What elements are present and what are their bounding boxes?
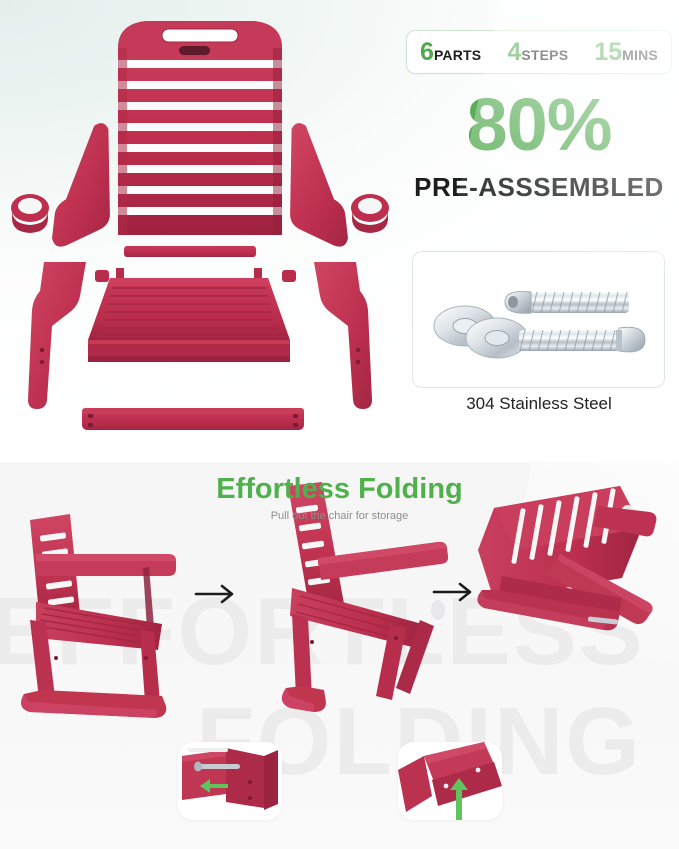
right-armrest	[286, 123, 389, 247]
top-section: 6 PARTS 4 STEPS 15 MINS 80% PRE-ASSSEMBL…	[0, 0, 679, 462]
exploded-chair-diagram	[0, 0, 400, 462]
badge-mins: 15 MINS	[594, 40, 658, 65]
hardware-caption: 304 Stainless Steel	[406, 395, 672, 412]
badge-mins-label: MINS	[622, 48, 658, 62]
backrest-panel	[118, 21, 282, 235]
badge-steps-number: 4	[507, 40, 521, 65]
chair-fully-folded	[477, 486, 656, 630]
hardware-illustration	[413, 252, 665, 388]
chair-open	[21, 514, 176, 718]
spec-badge-bar: 6 PARTS 4 STEPS 15 MINS	[406, 30, 672, 74]
left-leg-support	[28, 262, 86, 409]
hardware-panel	[412, 251, 665, 388]
badge-parts: 6 PARTS	[420, 40, 481, 65]
folding-subtitle: Pull out the chair for storage	[0, 511, 679, 522]
connector-block-right	[282, 270, 296, 282]
folding-heading: Effortless Folding	[0, 475, 679, 504]
bolt-1	[505, 291, 629, 313]
badge-parts-number: 6	[420, 40, 434, 65]
callout-leg-lift	[398, 742, 502, 820]
badge-steps-label: STEPS	[521, 48, 568, 62]
leg-lift-illustration	[398, 742, 502, 820]
badge-parts-label: PARTS	[434, 48, 481, 62]
badge-steps: 4 STEPS	[507, 40, 568, 65]
upper-cross-rail	[124, 246, 256, 257]
badge-mins-number: 15	[594, 40, 622, 65]
product-infographic: 6 PARTS 4 STEPS 15 MINS 80% PRE-ASSSEMBL…	[0, 0, 679, 849]
washer-2	[466, 318, 528, 358]
arrow-right-1	[196, 586, 232, 602]
bolt-release-illustration	[178, 742, 282, 820]
pre-assembled-caption: PRE-ASSSEMBLED	[406, 174, 672, 200]
lower-cross-rail	[82, 408, 304, 430]
callout-bolt-release	[178, 742, 282, 820]
right-cup-holder	[351, 194, 389, 233]
bolt-2	[519, 327, 645, 352]
connector-block-left	[95, 270, 109, 282]
pre-assembled-percent: 80%	[406, 88, 672, 162]
left-cup-holder	[11, 194, 49, 233]
seat-assembly	[88, 268, 290, 362]
folding-section: EFFORTLESS FOLDING	[0, 462, 679, 849]
left-armrest	[11, 123, 114, 247]
right-leg-support	[314, 262, 372, 409]
arrow-right-2	[434, 584, 470, 600]
